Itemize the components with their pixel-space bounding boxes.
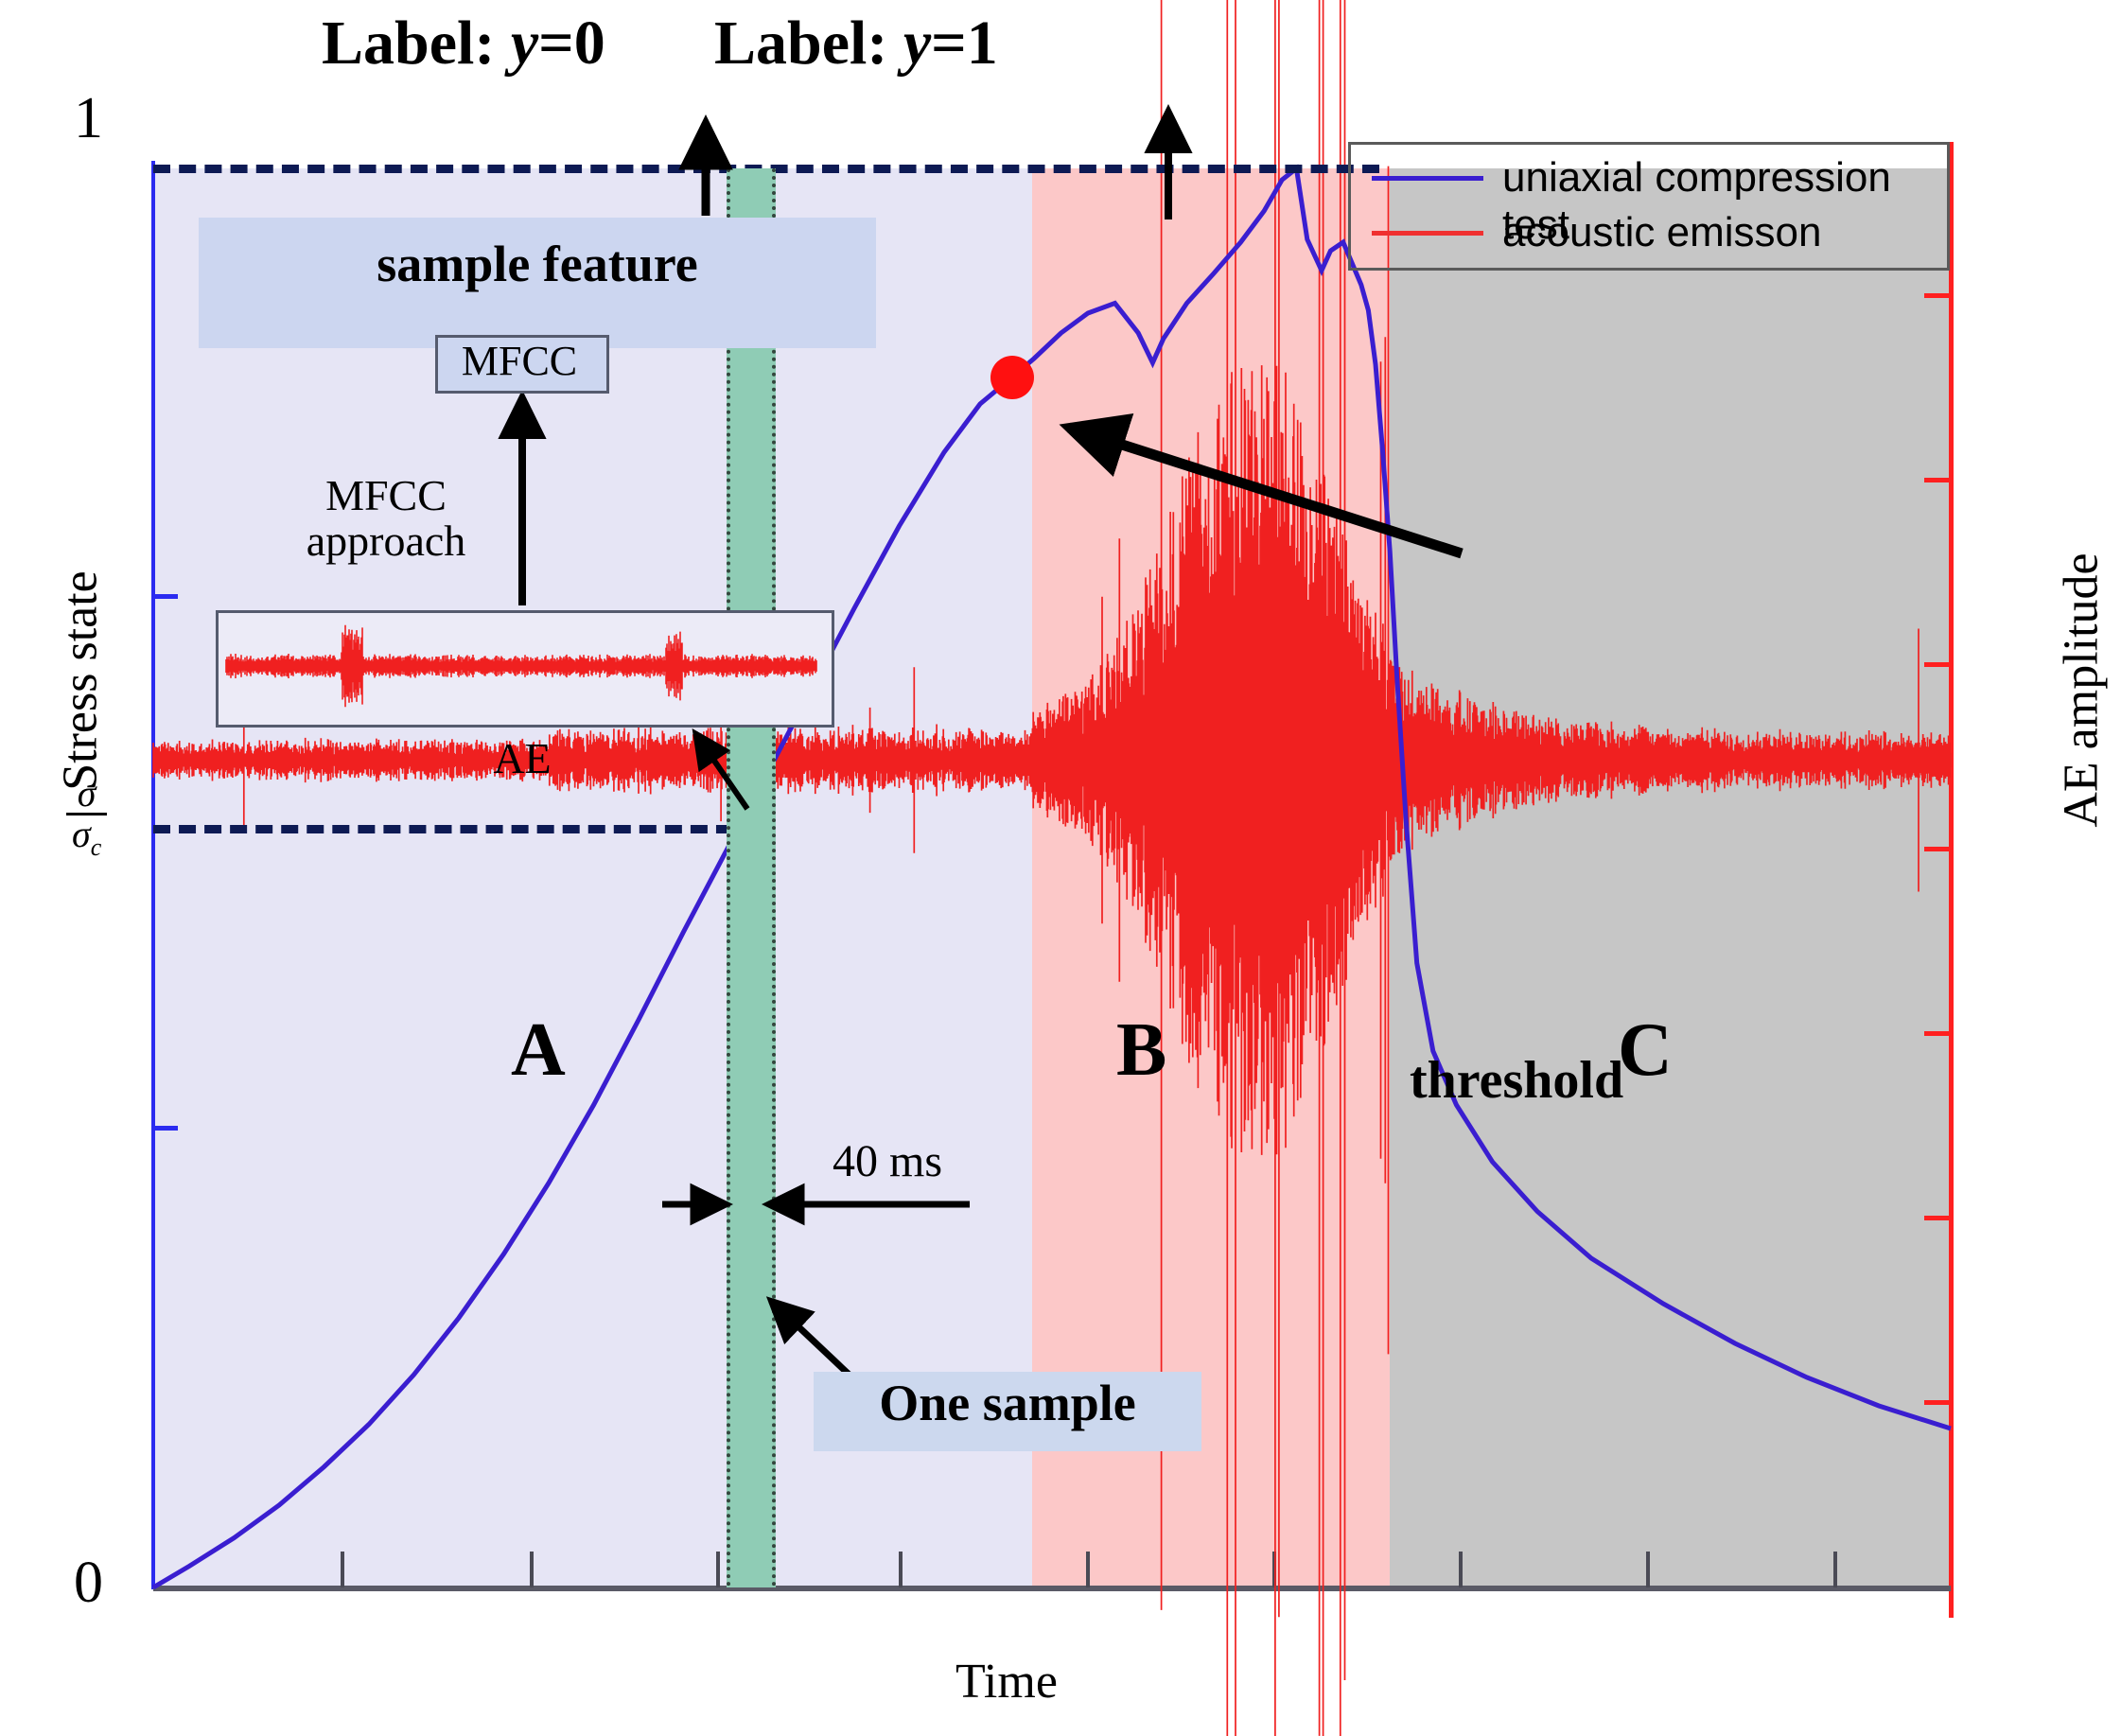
- threshold-line-lower: [153, 825, 759, 833]
- y-tick-left-2: [153, 1126, 178, 1131]
- zone-b-label: B: [1116, 1008, 1166, 1094]
- ae-inset-box: [216, 610, 834, 728]
- label-y1-variable: y: [903, 9, 931, 78]
- legend-item-1[interactable]: acoustic emisson: [1351, 207, 1947, 260]
- y-tick-right-4: [1924, 847, 1951, 851]
- zone-c-label: C: [1618, 1008, 1673, 1094]
- y-axis-left: [151, 161, 155, 1589]
- zone-a-label: A: [511, 1008, 566, 1094]
- mfcc-approach-label: MFCC approach: [263, 473, 509, 565]
- x-tick-8: [1646, 1552, 1650, 1587]
- x-tick-3: [716, 1552, 720, 1587]
- y-axis-right-title: AE amplitude: [2054, 530, 2110, 851]
- ae-inset-caption: AE: [216, 733, 829, 783]
- x-axis-title: Time: [955, 1654, 1058, 1710]
- x-axis: [153, 1586, 1951, 1591]
- x-tick-2: [530, 1552, 534, 1587]
- x-tick-5: [1086, 1552, 1090, 1587]
- sample-feature-label: sample feature: [199, 235, 876, 293]
- x-tick-4: [899, 1552, 903, 1587]
- y-tick-right-6: [1924, 1216, 1951, 1220]
- label-y1-text: Label: y=1: [714, 8, 998, 79]
- y-tick-right-5: [1924, 1031, 1951, 1036]
- duration-label: 40 ms: [833, 1135, 942, 1187]
- y-tick-right-7: [1924, 1400, 1951, 1405]
- legend-item-0[interactable]: uniaxial compression test: [1351, 152, 1947, 205]
- y-tick-right-2: [1924, 478, 1951, 482]
- y-tick-left-1: [153, 594, 178, 599]
- legend-swatch-acoustic: [1372, 231, 1483, 236]
- one-sample-window: [727, 168, 776, 1587]
- y-axis-tick-label-top: 1: [74, 85, 103, 152]
- threshold-label: threshold: [1410, 1050, 1623, 1111]
- label-y0-variable: y: [511, 9, 538, 78]
- x-tick-9: [1833, 1552, 1837, 1587]
- label-y0-text: Label: y=0: [322, 8, 605, 79]
- y-axis-left-title: Stress state: [53, 520, 109, 842]
- region-c-background: [1390, 168, 1951, 1587]
- x-tick-6: [1272, 1552, 1276, 1587]
- x-tick-1: [341, 1552, 344, 1587]
- one-sample-label: One sample: [814, 1374, 1201, 1432]
- y-axis-tick-label-bottom: 0: [74, 1550, 103, 1617]
- threshold-marker-dot: [990, 356, 1034, 399]
- legend-label-acoustic: acoustic emisson: [1502, 209, 1821, 256]
- legend: uniaxial compression test acoustic emiss…: [1348, 142, 1950, 271]
- y-tick-right-3: [1924, 662, 1951, 667]
- legend-swatch-uniaxial: [1372, 176, 1483, 181]
- x-tick-7: [1459, 1552, 1463, 1587]
- y-tick-right-1: [1924, 293, 1951, 298]
- y-axis-right: [1949, 142, 1954, 1618]
- mfcc-label: MFCC: [435, 337, 604, 385]
- ae-inset-waveform: [219, 613, 826, 719]
